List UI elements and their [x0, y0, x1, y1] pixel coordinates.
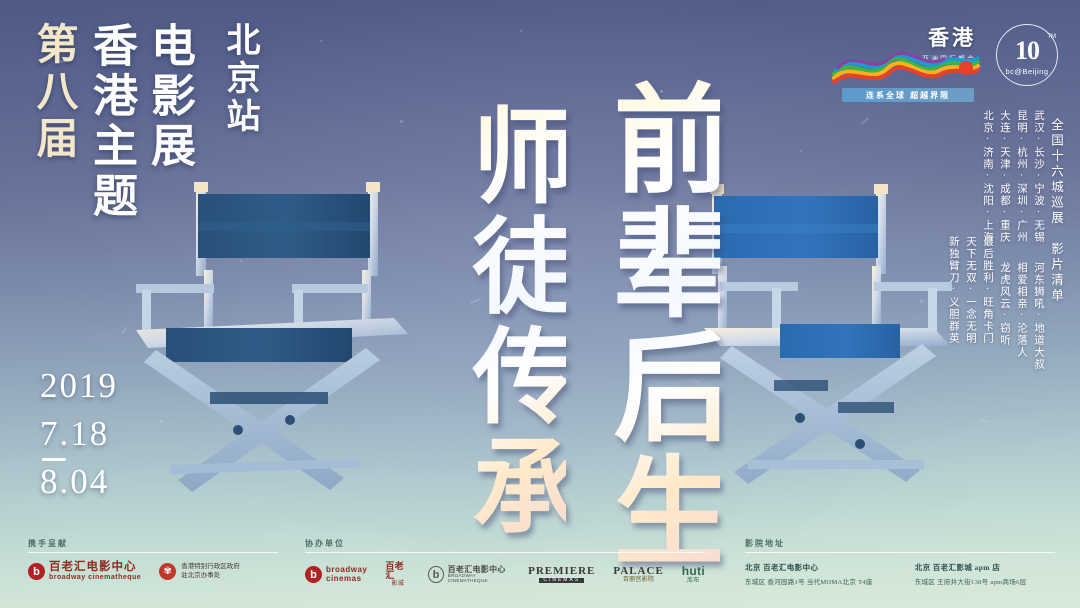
- hk-dragon-ribbon-icon: [832, 48, 980, 88]
- broadway-name-en: broadway cinematheque: [49, 574, 141, 582]
- venue-address-list: 北京 百老汇电影中心 东城区 香河园路1号 当代MOMA北京 T4座 北京 百老…: [745, 562, 1055, 586]
- venues-label: 影院地址: [745, 538, 1055, 549]
- film-line: 天下无双·一念无明: [965, 236, 976, 345]
- bc-anniversary-number: 10: [996, 36, 1058, 66]
- tour-city-list: 北京·济南·沈阳·上海 大连·天津·成都·重庆 昆明·杭州·深圳·广州 武汉·长…: [982, 110, 1044, 244]
- venue-address: 北京 百老汇电影中心 东城区 香河园路1号 当代MOMA北京 T4座: [745, 562, 873, 586]
- broadway-cinematheque-logo[interactable]: b 百老汇电影中心 broadway cinematheque: [28, 562, 141, 581]
- date-separator: [42, 458, 66, 461]
- broadway-cinemas-logo[interactable]: b broadway cinemas: [305, 566, 367, 584]
- broadway-name-cn: 百老汇电影中心: [49, 562, 141, 574]
- poster-canvas: 第八届 香港主题 电影展 北京站 前辈后生 师徒传承 2019 7.18 8.0…: [0, 0, 1080, 608]
- premiere-line-1: PREMIERE: [528, 566, 595, 578]
- coorganizer-logos: b broadway cinemas 百老汇 影城 b 百老汇电影中心: [305, 562, 705, 587]
- hk-gov-line-1: 香港特别行政区政府: [181, 563, 240, 572]
- film-line: 新独臂刀·义胆群英: [948, 236, 959, 345]
- broadway-b-icon: b: [305, 566, 322, 583]
- palace-line-1: PALACE: [613, 566, 663, 578]
- footer-section-presenters: 携手呈献 b 百老汇电影中心 broadway cinematheque ✾ 香…: [28, 538, 278, 581]
- tour-heading: 全国十六城巡展: [1049, 118, 1062, 227]
- heading-edition: 第八届: [32, 22, 74, 163]
- bc-beijing-anniversary-logo: 10 TM bc@Beijing: [996, 24, 1058, 86]
- presenter-logos: b 百老汇电影中心 broadway cinematheque ✾ 香港特别行政…: [28, 562, 278, 581]
- bc-brand-name: bc@Beijing: [996, 67, 1058, 76]
- hk-government-office-logo[interactable]: ✾ 香港特别行政区政府 驻北京办事处: [159, 563, 240, 581]
- broadway-b-icon: b: [28, 563, 45, 580]
- film-line: 相爱相亲·沦落人: [1016, 262, 1027, 371]
- tour-line: 武汉·长沙·宁波·无锡: [1033, 110, 1044, 244]
- premiere-cinemas-logo[interactable]: PREMIERE CINEMAS: [528, 566, 595, 583]
- huti-logo[interactable]: huti 库布: [682, 565, 705, 584]
- tour-line: 北京·济南·沈阳·上海: [982, 110, 993, 244]
- venues-divider: [745, 552, 1055, 553]
- broadway-cn-line-1: 百老汇: [385, 562, 410, 581]
- broadway-cn-logo[interactable]: 百老汇 影城: [385, 562, 410, 587]
- bc-b-icon: b: [428, 566, 443, 583]
- bc-cinematheque-logo[interactable]: b 百老汇电影中心 BROADWAY CINEMATHEQUE: [428, 566, 510, 584]
- broadway-cinemas-line-2: cinemas: [326, 575, 367, 584]
- bc-cinematheque-text: 百老汇电影中心 BROADWAY CINEMATHEQUE: [448, 566, 510, 584]
- film-list: 新独臂刀·义胆群英 天下无双·一念无明 最后胜利·旺角卡门 龙虎风云·窃听 相爱…: [948, 236, 1044, 345]
- main-title: 前辈后生 师徒传承: [418, 78, 708, 508]
- footer-bar: 携手呈献 b 百老汇电影中心 broadway cinematheque ✾ 香…: [0, 530, 1080, 608]
- heading-festival: 电影展: [146, 22, 191, 172]
- huti-line-2: 库布: [687, 578, 700, 584]
- title-column-left: 师徒传承: [460, 102, 566, 542]
- hk-gov-line-2: 驻北京办事处: [181, 572, 240, 581]
- venue-address: 北京 百老汇影城 apm 店 东城区 王府井大街138号 apm商场6层: [915, 562, 1027, 586]
- premiere-line-2: CINEMAS: [539, 578, 584, 583]
- heading-theme: 香港主题: [88, 22, 133, 222]
- palace-line-2: 百丽宫影院: [623, 577, 655, 583]
- date-year: 2019: [40, 368, 118, 405]
- venue-name: 北京 百老汇电影中心: [745, 562, 873, 573]
- bauhinia-flower-icon: ✾: [159, 563, 176, 580]
- date-block: 2019 7.18 8.04: [40, 368, 118, 502]
- date-start: 7.18: [40, 413, 118, 454]
- hk-brand-tagline: 连系全球 超越界限: [842, 88, 974, 102]
- venue-name: 北京 百老汇影城 apm 店: [915, 562, 1027, 573]
- hong-kong-brand-logo: 香港 亚洲国际都会 连系全球 超越界限: [832, 18, 982, 102]
- date-end: 8.04: [40, 463, 118, 502]
- bc-trademark-mark: TM: [1047, 34, 1056, 40]
- huti-line-1: huti: [682, 565, 705, 578]
- tour-line: 昆明·杭州·深圳·广州: [1016, 110, 1027, 244]
- hk-government-office-text: 香港特别行政区政府 驻北京办事处: [181, 563, 240, 581]
- tour-line: 大连·天津·成都·重庆: [999, 110, 1010, 244]
- presenters-divider: [28, 552, 278, 553]
- venue-detail: 东城区 香河园路1号 当代MOMA北京 T4座: [745, 576, 873, 586]
- film-list-heading: 影片清单: [1049, 242, 1062, 304]
- film-line: 最后胜利·旺角卡门: [982, 236, 993, 345]
- bc-cinematheque-line-2: BROADWAY CINEMATHEQUE: [448, 574, 510, 584]
- directors-chair-right: [688, 178, 960, 508]
- footer-section-coorganizers: 协办单位 b broadway cinemas 百老汇 影城 b: [305, 538, 705, 587]
- coorganizers-label: 协办单位: [305, 538, 705, 549]
- footer-section-venues: 影院地址 北京 百老汇电影中心 东城区 香河园路1号 当代MOMA北京 T4座 …: [745, 538, 1055, 586]
- coorganizers-divider: [305, 552, 705, 553]
- venue-detail: 东城区 王府井大街138号 apm商场6层: [915, 576, 1027, 586]
- presenters-label: 携手呈献: [28, 538, 278, 549]
- title-column-right: 前辈后生: [600, 78, 720, 574]
- directors-chair-left: [118, 178, 418, 518]
- broadway-cn-line-2: 影城: [392, 581, 405, 587]
- heading-station: 北京站: [222, 22, 256, 136]
- film-line: 龙虎风云·窃听: [999, 262, 1010, 371]
- palace-cinema-logo[interactable]: PALACE 百丽宫影院: [613, 566, 663, 584]
- film-line: 河东狮吼·地道大叔: [1033, 262, 1044, 371]
